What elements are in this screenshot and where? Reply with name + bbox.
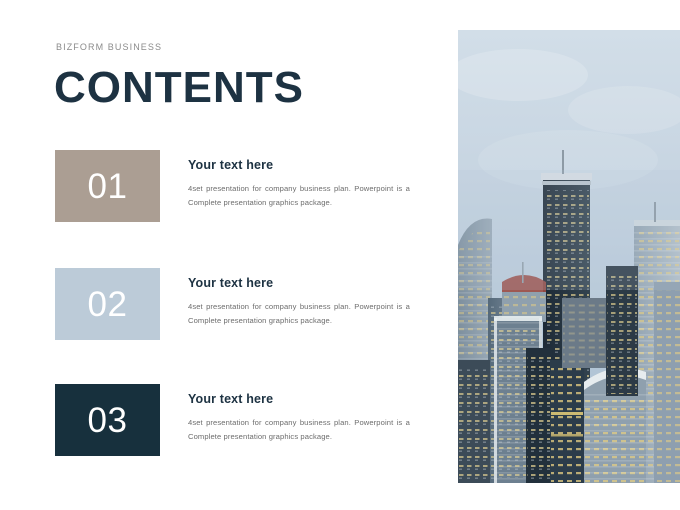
number-label: 03	[88, 403, 128, 438]
slide-root: BIZFORM BUSINESS CONTENTS 01 Your text h…	[0, 0, 680, 510]
item-title: Your text here	[188, 392, 410, 406]
content-text-01: Your text here 4set presentation for com…	[188, 158, 410, 209]
number-badge-02[interactable]: 02	[55, 268, 160, 340]
number-label: 02	[88, 287, 128, 322]
number-badge-01[interactable]: 01	[55, 150, 160, 222]
item-title: Your text here	[188, 276, 410, 290]
item-body: 4set presentation for company business p…	[188, 182, 410, 209]
number-badge-03[interactable]: 03	[55, 384, 160, 456]
content-row-02: 02 Your text here 4set presentation for …	[55, 268, 415, 358]
page-title: CONTENTS	[54, 64, 304, 112]
cityscape-photo	[458, 30, 680, 483]
cityscape-illustration	[458, 30, 680, 483]
content-row-01: 01 Your text here 4set presentation for …	[55, 150, 415, 240]
content-text-03: Your text here 4set presentation for com…	[188, 392, 410, 443]
content-row-03: 03 Your text here 4set presentation for …	[55, 384, 415, 474]
number-label: 01	[88, 169, 128, 204]
eyebrow-text: BIZFORM BUSINESS	[56, 42, 162, 52]
item-body: 4set presentation for company business p…	[188, 300, 410, 327]
content-text-02: Your text here 4set presentation for com…	[188, 276, 410, 327]
item-title: Your text here	[188, 158, 410, 172]
item-body: 4set presentation for company business p…	[188, 416, 410, 443]
